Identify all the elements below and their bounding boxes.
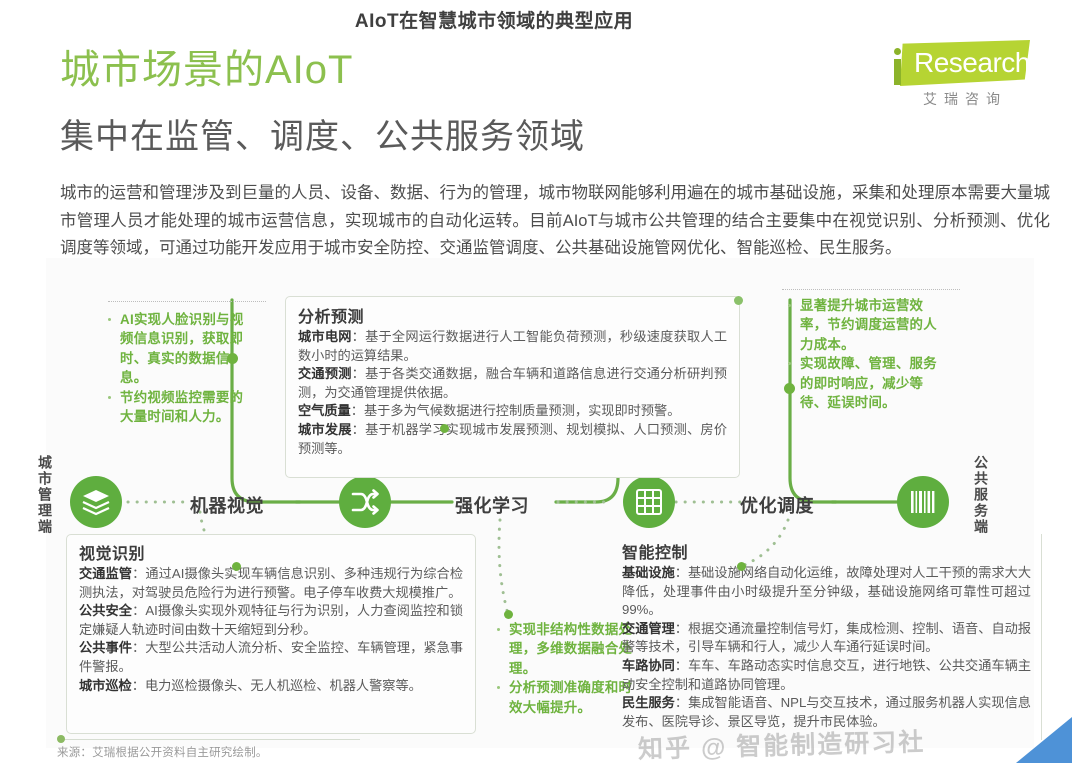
- logo-wordmark: Research: [914, 47, 1030, 79]
- source-dot: [57, 735, 65, 743]
- box-visual-recognition: 视觉识别 交通监管：通过AI摄像头实现车辆信息识别、多种违规行为综合检测执法，对…: [66, 534, 476, 734]
- box-control-title: 智能控制: [622, 539, 1031, 563]
- entry-desc: 根据交通流量控制信号灯，集成检测、控制、语音、自动报警等技术，引导车辆和行人，减…: [622, 621, 1031, 655]
- node-grid[interactable]: [623, 476, 675, 528]
- box-analysis-entry: 城市发展：基于机器学习实现城市发展预测、规划模拟、人口预测、房价预测等。: [298, 421, 727, 458]
- infographic-page: 城市场景的AIoT 集中在监管、调度、公共服务领域 Research 艾瑞咨询 …: [0, 0, 1072, 763]
- entry-desc: 基于多为气候数据进行控制质量预测，实现即时预警。: [364, 403, 681, 418]
- entry-desc: 通过AI摄像头实现车辆信息识别、多种违规行为综合检测执法，对驾驶员危险行为进行预…: [79, 566, 463, 600]
- logo-i-dot: [894, 48, 901, 55]
- intro-paragraph: 城市的运营和管理涉及到巨量的人员、设备、数据、行为的管理，城市物联网能够利用遍在…: [60, 180, 1050, 263]
- source-rule: [60, 739, 360, 740]
- entry-term: 城市巡检: [79, 678, 132, 693]
- entry-term: 交通预测: [298, 366, 352, 381]
- callout-right-rule: [782, 289, 960, 290]
- callout-right: 显著提升城市运营效率，节约调度运营的人力成本。 实现故障、管理、服务的即时响应，…: [784, 296, 940, 412]
- layers-icon: [81, 488, 111, 516]
- callout-left-item-2: 节约视频监控需要的大量时间和人力。: [120, 388, 256, 427]
- entry-term: 城市电网: [298, 329, 352, 344]
- node-barcode[interactable]: [897, 476, 949, 528]
- entry-term: 民生服务: [622, 695, 675, 710]
- page-title: 城市场景的AIoT: [60, 46, 353, 94]
- box-analysis-entry: 交通预测：基于各类交通数据，融合车辆和道路信息进行交通分析研判预测，为交通管理提…: [298, 365, 727, 402]
- connector-dot: [784, 383, 795, 394]
- watermark: 知乎 @ 智能制造研习社: [638, 722, 926, 763]
- callout-right-item-1: 显著提升城市运营效率，节约调度运营的人力成本。: [800, 296, 940, 354]
- entry-term: 公共事件: [79, 640, 132, 655]
- box-vision-entry: 城市巡检：电力巡检摄像头、无人机巡检、机器人警察等。: [79, 677, 463, 696]
- entry-desc: 基础设施网络自动化运维，故障处理对人工干预的需求大大降低，处理事件由小时级提升至…: [622, 565, 1031, 617]
- side-label-public-service: 公共服务端: [972, 455, 989, 535]
- node-label-optimized-schedule: 优化调度: [740, 492, 814, 518]
- box-analysis-entry: 城市电网：基于全网运行数据进行人工智能负荷预测，秒级速度获取人工数小时的运算结果…: [298, 328, 727, 365]
- logo-i-stem: [894, 59, 901, 85]
- box-analysis-forecast: 分析预测 城市电网：基于全网运行数据进行人工智能负荷预测，秒级速度获取人工数小时…: [285, 296, 740, 478]
- box-vision-title: 视觉识别: [79, 540, 463, 564]
- box-analysis-title: 分析预测: [298, 303, 727, 327]
- page-subtitle: 集中在监管、调度、公共服务领域: [60, 116, 585, 158]
- entry-desc: 基于各类交通数据，融合车辆和道路信息进行交通分析研判预测，为交通管理提供依据。: [298, 366, 727, 400]
- entry-term: 交通管理: [622, 621, 675, 636]
- barcode-icon: [909, 489, 937, 515]
- box-control-entry: 基础设施：基础设施网络自动化运维，故障处理对人工干预的需求大大降低，处理事件由小…: [622, 564, 1031, 620]
- entry-desc: 集成智能语音、NPL与交互技术，通过服务机器人实现信息发布、医院导诊、景区导览，…: [622, 695, 1031, 729]
- entry-desc: 车车、车路动态实时信息交互，进行地铁、公共交通车辆主动安全控制和道路协同管理。: [622, 658, 1031, 692]
- connector-dot: [232, 562, 241, 571]
- side-label-city-management: 城市管理端: [36, 455, 53, 535]
- connector-dot: [737, 562, 746, 571]
- node-shuffle[interactable]: [339, 476, 391, 528]
- entry-desc: 基于全网运行数据进行人工智能负荷预测，秒级速度获取人工数小时的运算结果。: [298, 329, 727, 363]
- callout-center-item-1: 实现非结构性数据处理，多维数据融合处理。: [509, 620, 633, 678]
- node-label-machine-vision: 机器视觉: [190, 492, 264, 518]
- chart-title: AIoT在智慧城市领域的典型应用: [0, 6, 988, 33]
- entry-term: 空气质量: [298, 403, 351, 418]
- node-layers[interactable]: [70, 476, 122, 528]
- entry-term: 基础设施: [622, 565, 675, 580]
- box-vision-entry: 交通监管：通过AI摄像头实现车辆信息识别、多种违规行为综合检测执法，对驾驶员危险…: [79, 565, 463, 602]
- entry-term: 交通监管: [79, 566, 132, 581]
- entry-desc: 大型公共活动人流分析、安全监控、车辆管理，紧急事件警报。: [79, 640, 463, 674]
- connector-dot: [504, 610, 513, 619]
- corner-accent: [1016, 717, 1072, 763]
- connector-dot: [227, 353, 238, 364]
- callout-left-rule: [108, 301, 266, 302]
- box-intelligent-control: 智能控制 基础设施：基础设施网络自动化运维，故障处理对人工干预的需求大大降低，处…: [622, 534, 1042, 740]
- node-label-reinforcement: 强化学习: [455, 492, 529, 518]
- source-note: 来源：艾瑞根据公开资料自主研究绘制。: [57, 744, 268, 760]
- entry-term: 公共安全: [79, 603, 132, 618]
- callout-left: AI实现人脸识别与视频信息识别，获取即时、真实的数据信息。 节约视频监控需要的大…: [104, 310, 256, 426]
- entry-desc: 基于机器学习实现城市发展预测、规划模拟、人口预测、房价预测等。: [298, 422, 727, 456]
- entry-desc: 电力巡检摄像头、无人机巡检、机器人警察等。: [145, 678, 422, 693]
- shuffle-icon: [350, 488, 380, 516]
- box-vision-entry: 公共安全：AI摄像头实现外观特征与行为识别，人力查阅监控和锁定嫌疑人轨迹时间由数…: [79, 602, 463, 639]
- box-vision-entry: 公共事件：大型公共活动人流分析、安全监控、车辆管理，紧急事件警报。: [79, 639, 463, 676]
- entry-term: 车路协同: [622, 658, 675, 673]
- box-analysis-entry: 空气质量：基于多为气候数据进行控制质量预测，实现即时预警。: [298, 402, 727, 421]
- grid-icon: [635, 488, 663, 516]
- connector-dot: [734, 296, 743, 305]
- entry-desc: AI摄像头实现外观特征与行为识别，人力查阅监控和锁定嫌疑人轨迹时间由数十天缩短到…: [79, 603, 463, 637]
- connector-dot: [440, 424, 449, 433]
- box-control-entry: 交通管理：根据交通流量控制信号灯，集成检测、控制、语音、自动报警等技术，引导车辆…: [622, 620, 1031, 657]
- logo-chinese-name: 艾瑞咨询: [902, 90, 1028, 108]
- callout-center-item-2: 分析预测准确度和时效大幅提升。: [509, 678, 633, 717]
- callout-right-item-2: 实现故障、管理、服务的即时响应，减少等待、延误时间。: [800, 354, 940, 412]
- box-control-entry: 车路协同：车车、车路动态实时信息交互，进行地铁、公共交通车辆主动安全控制和道路协…: [622, 657, 1031, 694]
- callout-center: 实现非结构性数据处理，多维数据融合处理。 分析预测准确度和时效大幅提升。: [493, 620, 633, 717]
- iresearch-logo: Research 艾瑞咨询: [884, 40, 1034, 116]
- entry-term: 城市发展: [298, 422, 352, 437]
- callout-left-item-1: AI实现人脸识别与视频信息识别，获取即时、真实的数据信息。: [120, 310, 256, 388]
